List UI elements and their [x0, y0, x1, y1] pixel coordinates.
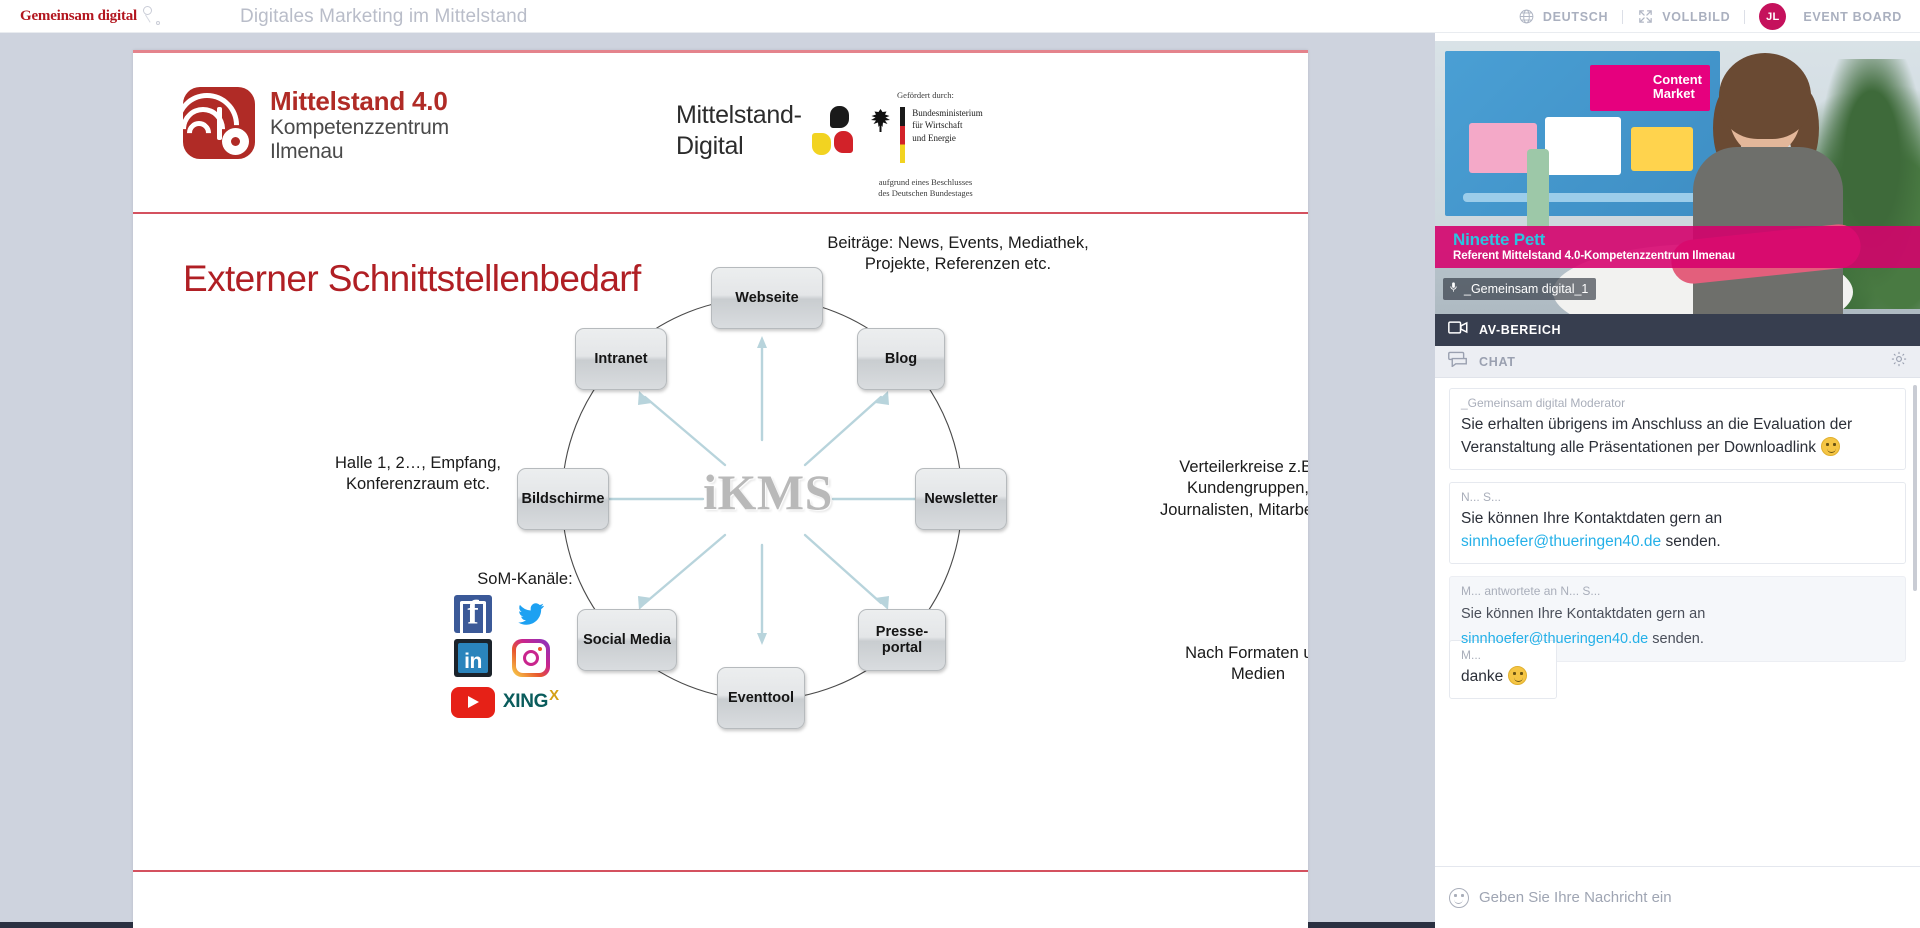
node-label: Presse- portal — [876, 624, 928, 656]
annotation-bottom-right-line-1: Nach Formaten und — [1143, 643, 1308, 664]
annotation-top-line-2: Projekte, Referenzen etc. — [793, 254, 1123, 275]
federal-eagle-icon — [868, 107, 893, 134]
chat-input-placeholder[interactable]: Geben Sie Ihre Nachricht ein — [1479, 889, 1672, 906]
smiley-emoji-icon — [1508, 666, 1527, 685]
annotation-right-line-3: Journalisten, Mitarbeiter — [1098, 500, 1308, 521]
event-board-label: EVENT BOARD — [1803, 10, 1902, 24]
speaker-video[interactable]: Content Market Ninette Pe — [1435, 41, 1920, 314]
chat-messages-list[interactable]: _Gemeinsam digital Moderator Sie erhalte… — [1435, 378, 1920, 894]
chat-message[interactable]: N... S... Sie können Ihre Kontaktdaten g… — [1449, 482, 1906, 564]
kompetenzzentrum-logo: Mittelstand 4.0 Kompetenzzentrum Ilmenau — [183, 87, 449, 163]
presentation-screen: Content Market — [1445, 51, 1720, 216]
right-panel: Content Market Ninette Pe — [1435, 33, 1920, 928]
annotation-top: Beiträge: News, Events, Mediathek, Proje… — [793, 233, 1123, 276]
annotation-bottom-right-line-2: Medien — [1143, 664, 1308, 685]
chat-icon — [1447, 351, 1468, 372]
kompetenzzentrum-logo-text: Mittelstand 4.0 Kompetenzzentrum Ilmenau — [270, 87, 449, 163]
chat-message-text: Sie erhalten übrigens im Anschluss an di… — [1461, 414, 1894, 460]
annotation-left-line-2: Konferenzraum etc. — [273, 474, 563, 495]
slide-footer-rule — [133, 870, 1308, 872]
annotation-right: Verteilerkreise z.B. Kundengruppen, Jour… — [1098, 457, 1308, 521]
fullscreen-label: VOLLBILD — [1662, 10, 1730, 24]
chat-message-author: _Gemeinsam digital Moderator — [1461, 396, 1894, 410]
node-label-line-1: Presse- — [876, 624, 928, 640]
chat-scrollbar[interactable] — [1913, 385, 1917, 591]
node-social-media[interactable]: Social Media — [577, 609, 677, 671]
node-label: Newsletter — [924, 491, 997, 507]
workspace: Mittelstand 4.0 Kompetenzzentrum Ilmenau… — [0, 33, 1920, 928]
node-presseportal[interactable]: Presse- portal — [858, 609, 946, 671]
avatar: JL — [1759, 3, 1786, 30]
xing-mark: X — [549, 687, 559, 704]
page-title: Digitales Marketing im Mittelstand — [240, 0, 527, 33]
xing-icon[interactable]: XING X — [503, 691, 559, 713]
mic-status-chip: _Gemeinsam digital_1 — [1443, 278, 1596, 300]
brand-logo[interactable]: Gemeinsam digital — [20, 0, 190, 33]
chat-message-quoted[interactable]: M... antwortete an N... S... Sie können … — [1449, 576, 1906, 662]
mittelstand-digital-text: Mittelstand- Digital — [676, 100, 802, 161]
language-switch-button[interactable]: DEUTSCH — [1504, 0, 1622, 33]
annotation-left-line-1: Halle 1, 2…, Empfang, — [273, 453, 563, 474]
speaker-name-band: Ninette Pett Referent Mittelstand 4.0-Ko… — [1435, 226, 1920, 268]
som-icon-grid: in XING X — [445, 593, 559, 723]
chat-message-text: Sie können Ihre Kontaktdaten gern an sin… — [1461, 602, 1894, 652]
chat-message-text: Sie können Ihre Kontaktdaten gern an sin… — [1461, 508, 1894, 554]
linkedin-text: in — [458, 643, 488, 673]
speaker-name: Ninette Pett — [1453, 230, 1902, 250]
node-label: Webseite — [735, 290, 798, 306]
mic-chip-label: _Gemeinsam digital_1 — [1464, 282, 1588, 296]
chat-message[interactable]: _Gemeinsam digital Moderator Sie erhalte… — [1449, 388, 1906, 470]
language-label: DEUTSCH — [1543, 10, 1608, 24]
youtube-icon[interactable] — [451, 687, 495, 718]
node-blog[interactable]: Blog — [857, 328, 945, 390]
email-link[interactable]: sinnhoefer@thueringen40.de — [1461, 533, 1661, 550]
chat-header-label: CHAT — [1479, 355, 1879, 369]
diagram-center-label: iKMS — [678, 457, 858, 527]
instagram-icon[interactable] — [512, 639, 550, 677]
slide-header: Mittelstand 4.0 Kompetenzzentrum Ilmenau… — [133, 50, 1308, 215]
annotation-right-line-2: Kundengruppen, — [1098, 478, 1308, 499]
fullscreen-button[interactable]: VOLLBILD — [1623, 0, 1744, 33]
twitter-icon[interactable] — [511, 597, 551, 631]
node-label: Social Media — [583, 632, 671, 648]
funding-top-label: Gefördert durch: — [833, 90, 1018, 100]
logo-line-2: Kompetenzzentrum — [270, 116, 449, 140]
linkedin-icon[interactable]: in — [454, 639, 492, 677]
left-gutter — [0, 33, 133, 928]
node-newsletter[interactable]: Newsletter — [915, 468, 1007, 530]
top-bar-actions: DEUTSCH VOLLBILD JL EVENT BOARD — [1504, 0, 1902, 33]
microphone-icon — [1448, 280, 1459, 297]
brand-logo-text: Gemeinsam digital — [20, 8, 137, 25]
annotation-right-line-1: Verteilerkreise z.B. — [1098, 457, 1308, 478]
facebook-icon[interactable] — [454, 595, 492, 633]
email-link[interactable]: sinnhoefer@thueringen40.de — [1461, 631, 1648, 647]
chat-input-bar[interactable]: Geben Sie Ihre Nachricht ein — [1435, 866, 1920, 928]
annotation-top-line-1: Beiträge: News, Events, Mediathek, — [793, 233, 1123, 254]
fullscreen-icon — [1637, 8, 1654, 25]
gear-icon[interactable] — [1890, 350, 1908, 373]
german-flag-bar-icon — [900, 107, 905, 163]
brand-logo-mark — [138, 6, 164, 28]
av-section-label: AV-BEREICH — [1479, 323, 1561, 337]
chat-message-text: danke — [1461, 666, 1545, 689]
slide-diagram: Externer Schnittstellenbedarf — [133, 215, 1308, 870]
slide-header-rule — [133, 212, 1308, 214]
annotation-bottom-right: Nach Formaten und Medien — [1143, 643, 1308, 686]
ministry-line-2: für Wirtschaft — [912, 119, 983, 131]
smiley-emoji-icon — [1821, 437, 1840, 456]
funding-bottom-line-2: des Deutschen Bundestages — [833, 188, 1018, 199]
ministry-name: Bundesministerium für Wirtschaft und Ene… — [912, 107, 983, 144]
emoji-picker-icon[interactable] — [1449, 888, 1469, 908]
node-label: Intranet — [594, 351, 647, 367]
av-section-bar[interactable]: AV-BEREICH — [1435, 314, 1920, 346]
funding-block: Gefördert durch: Bundesministerium für W… — [833, 90, 1018, 200]
funding-bottom-line-1: aufgrund eines Beschlusses — [833, 177, 1018, 188]
node-intranet[interactable]: Intranet — [575, 328, 667, 390]
md-line-1: Mittelstand- — [676, 100, 802, 131]
ministry-line-1: Bundesministerium — [912, 107, 983, 119]
node-label: Eventtool — [728, 690, 794, 706]
chat-message-author: M... antwortete an N... S... — [1461, 584, 1894, 598]
slide-canvas[interactable]: Mittelstand 4.0 Kompetenzzentrum Ilmenau… — [133, 50, 1308, 928]
globe-icon — [1518, 8, 1535, 25]
som-label: SoM-Kanäle: — [425, 570, 625, 589]
md-line-2: Digital — [676, 131, 802, 162]
video-background: Content Market — [1435, 41, 1920, 314]
chat-header[interactable]: CHAT — [1435, 346, 1920, 378]
chat-message-author: N... S... — [1461, 490, 1894, 504]
logo-line-3: Ilmenau — [270, 140, 449, 164]
camera-icon — [1448, 320, 1468, 340]
node-label: Blog — [885, 351, 917, 367]
annotation-left: Halle 1, 2…, Empfang, Konferenzraum etc. — [273, 453, 563, 496]
ministry-line-3: und Energie — [912, 132, 983, 144]
top-bar: Gemeinsam digital Digitales Marketing im… — [0, 0, 1920, 33]
mittelstand-digital-logo: Mittelstand- Digital — [676, 100, 852, 161]
event-board-button[interactable]: JL EVENT BOARD — [1745, 0, 1902, 33]
node-eventtool[interactable]: Eventtool — [717, 667, 805, 729]
node-webseite[interactable]: Webseite — [711, 267, 823, 329]
node-label-line-2: portal — [882, 640, 922, 656]
logo-line-1: Mittelstand 4.0 — [270, 87, 449, 116]
wifi-gear-icon — [183, 87, 255, 159]
xing-text: XING — [503, 691, 548, 713]
speaker-role: Referent Mittelstand 4.0-Kompetenzzentru… — [1453, 250, 1902, 264]
funding-bottom-note: aufgrund eines Beschlusses des Deutschen… — [833, 177, 1018, 200]
